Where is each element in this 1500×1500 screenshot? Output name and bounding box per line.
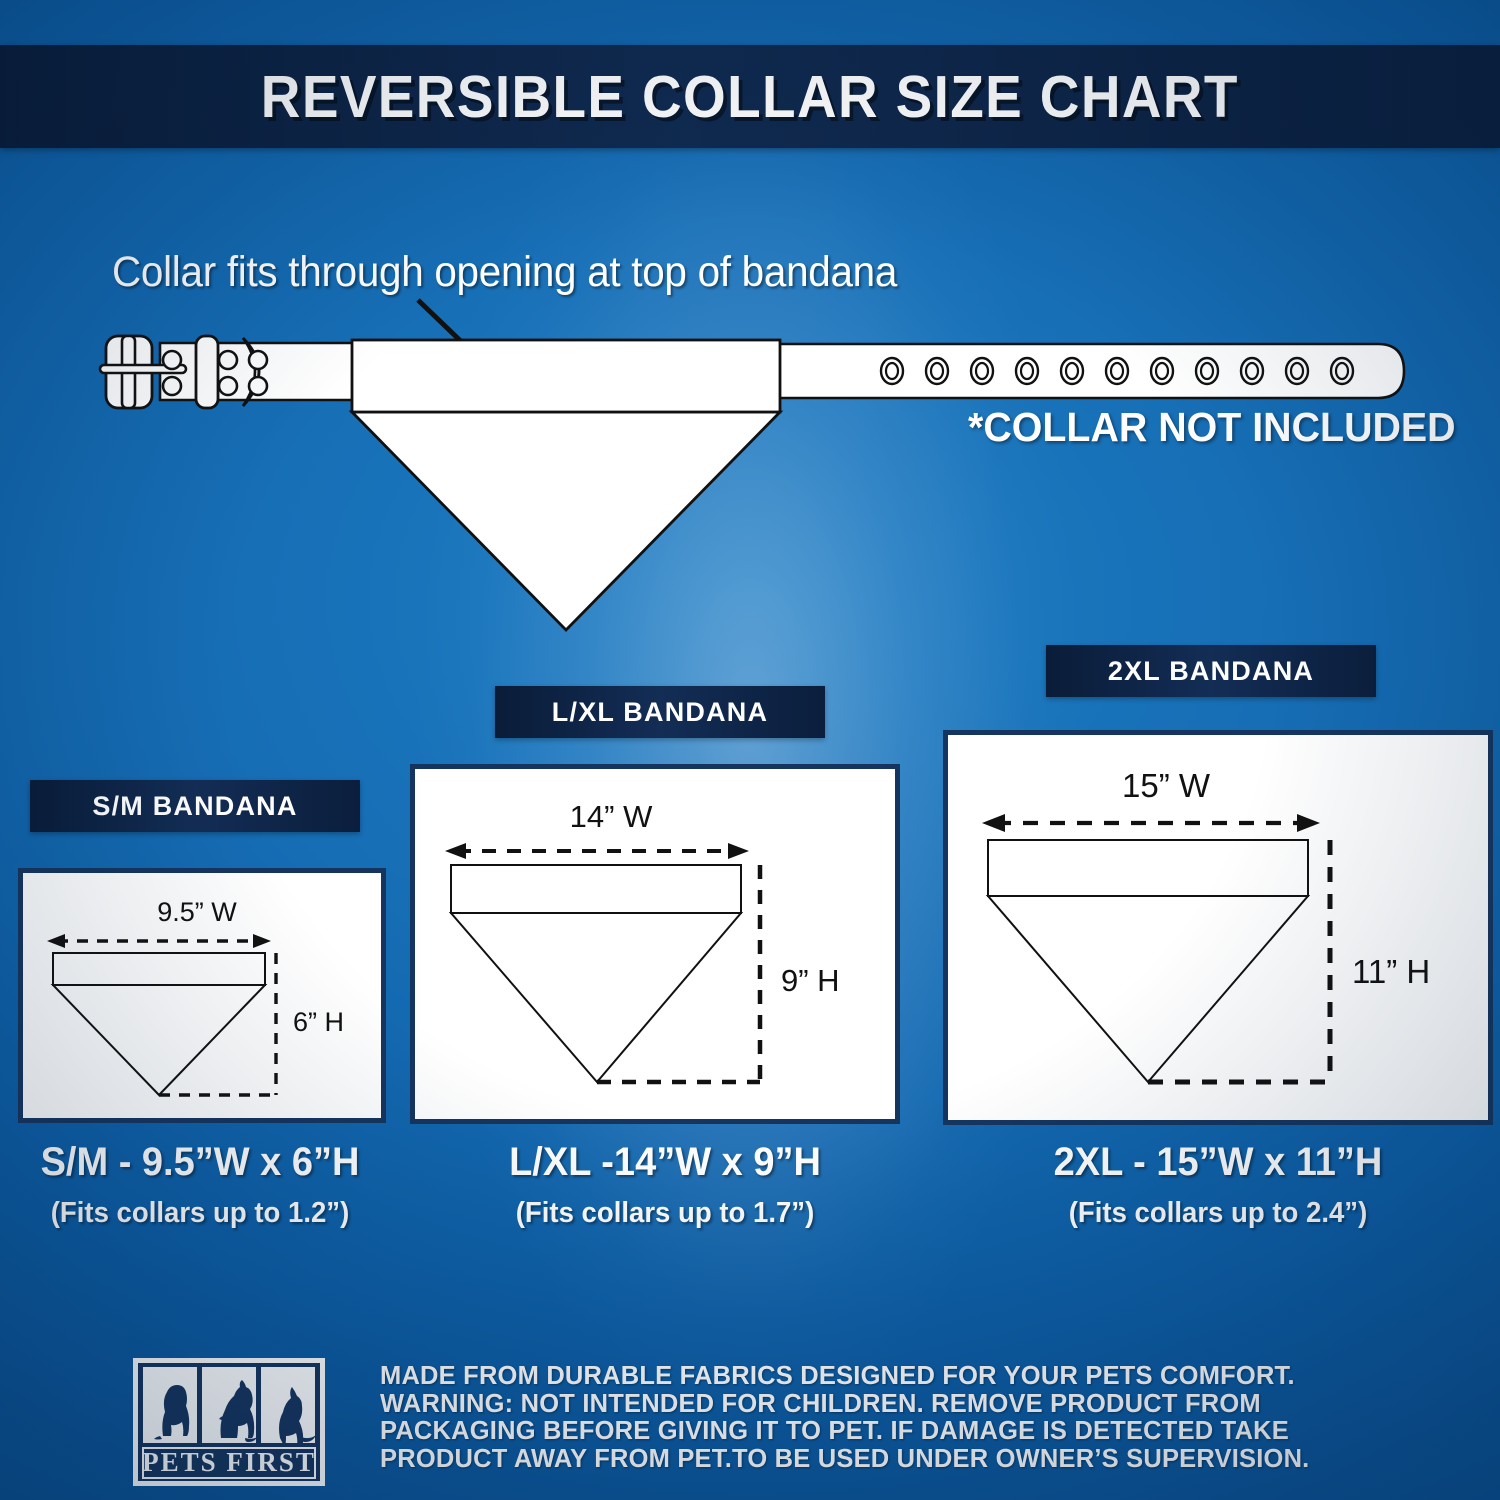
size-caption-main-lxl: L/XL -14”W x 9”H (475, 1140, 855, 1185)
size-caption-xxl: 2XL - 15”W x 11”H (Fits collars up to 2.… (1018, 1140, 1418, 1230)
disclaimer-line-1: MADE FROM DURABLE FABRICS DESIGNED FOR Y… (380, 1363, 1390, 1391)
logo-wordmark: PETS FIRST (142, 1447, 316, 1477)
size-diagram-lxl: 14” W 9” H (415, 769, 885, 1109)
page-title-bar: REVERSIBLE COLLAR SIZE CHART (0, 45, 1500, 148)
size-caption-lxl: L/XL -14”W x 9”H (Fits collars up to 1.7… (465, 1140, 865, 1230)
size-card-lxl: 14” W 9” H (410, 764, 900, 1124)
page-title: REVERSIBLE COLLAR SIZE CHART (261, 63, 1239, 131)
size-panel-label-sm: S/M BANDANA (30, 780, 360, 832)
size-caption-main-xxl: 2XL - 15”W x 11”H (1028, 1140, 1408, 1185)
bandana-shape (352, 340, 780, 630)
size-card-xxl: 15” W 11” H (943, 730, 1493, 1125)
size-diagram-xxl: 15” W 11” H (948, 735, 1478, 1110)
size-caption-sm: S/M - 9.5”W x 6”H (Fits collars up to 1.… (0, 1140, 400, 1230)
width-label-xxl: 15” W (1122, 767, 1211, 804)
size-diagram-sm: 9.5” W 6” H (23, 873, 371, 1108)
size-card-sm: 9.5” W 6” H (18, 868, 386, 1123)
size-chart-page: REVERSIBLE COLLAR SIZE CHART Collar fits… (0, 0, 1500, 1500)
height-label-sm: 6” H (293, 1007, 344, 1037)
size-caption-main-sm: S/M - 9.5”W x 6”H (10, 1140, 390, 1185)
height-label-lxl: 9” H (781, 963, 840, 998)
disclaimer-line-3: PACKAGING BEFORE GIVING IT TO PET. IF DA… (380, 1418, 1390, 1446)
size-panel-label-xxl: 2XL BANDANA (1046, 645, 1376, 697)
disclaimer-line-4: PRODUCT AWAY FROM PET.TO BE USED UNDER O… (380, 1446, 1390, 1474)
width-label-lxl: 14” W (570, 799, 653, 834)
pets-first-logo: PETS FIRST (133, 1358, 325, 1486)
footer-disclaimer: MADE FROM DURABLE FABRICS DESIGNED FOR Y… (380, 1363, 1390, 1473)
collar-not-included-note: *COLLAR NOT INCLUDED (968, 404, 1456, 451)
size-panel-label-lxl: L/XL BANDANA (495, 686, 825, 738)
disclaimer-line-2: WARNING: NOT INTENDED FOR CHILDREN. REMO… (380, 1391, 1390, 1419)
size-caption-sub-lxl: (Fits collars up to 1.7”) (475, 1197, 855, 1230)
size-caption-sub-xxl: (Fits collars up to 2.4”) (1028, 1197, 1408, 1230)
size-caption-sub-sm: (Fits collars up to 1.2”) (10, 1197, 390, 1230)
height-label-xxl: 11” H (1352, 953, 1430, 990)
width-label-sm: 9.5” W (157, 897, 237, 927)
